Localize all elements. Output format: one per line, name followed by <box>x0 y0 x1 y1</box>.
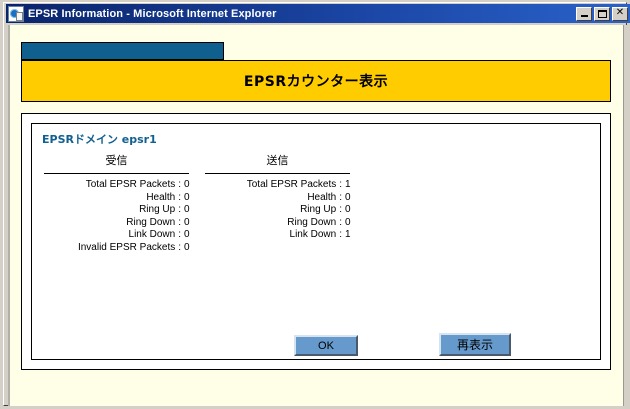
counter-value: 1 <box>345 229 352 242</box>
column-divider <box>205 173 350 174</box>
content-panel-outer: EPSRドメイン epsr1 受信 Total EPSR Packets : 0 <box>21 113 611 370</box>
counter-label: Ring Down <box>203 217 336 230</box>
scroll-gutter <box>623 25 628 406</box>
title-bar: EPSR Information - Microsoft Internet Ex… <box>6 4 630 23</box>
counter-separator: : <box>336 217 345 230</box>
counter-row: Invalid EPSR Packets : 0 <box>42 242 191 255</box>
counter-value: 0 <box>184 242 191 255</box>
counter-label: Ring Up <box>42 204 175 217</box>
counter-value: 0 <box>345 192 352 205</box>
minimize-button[interactable] <box>576 7 592 21</box>
counter-separator: : <box>175 179 184 192</box>
maximize-button[interactable] <box>594 7 610 21</box>
page-body: EPSRカウンター表示 EPSRドメイン epsr1 受信 Total EPSR… <box>10 25 626 406</box>
counter-label: Link Down <box>42 229 175 242</box>
close-button[interactable]: ✕ <box>612 7 628 21</box>
counter-value: 0 <box>184 204 191 217</box>
counter-separator: : <box>175 204 184 217</box>
ie-document-icon <box>8 6 24 22</box>
minimize-icon <box>581 15 588 17</box>
counter-value: 0 <box>345 204 352 217</box>
counter-row: Link Down : 1 <box>203 229 352 242</box>
counter-value: 0 <box>184 192 191 205</box>
counter-value: 1 <box>345 179 352 192</box>
window-controls: ✕ <box>576 7 628 21</box>
counter-separator: : <box>175 229 184 242</box>
close-icon: ✕ <box>616 8 624 18</box>
counter-value: 0 <box>184 179 191 192</box>
counter-label: Ring Up <box>203 204 336 217</box>
counter-label: Ring Down <box>42 217 175 230</box>
counter-separator: : <box>336 204 345 217</box>
counter-separator: : <box>175 242 184 255</box>
browser-client-area: EPSRカウンター表示 EPSRドメイン epsr1 受信 Total EPSR… <box>8 25 628 406</box>
counter-value: 0 <box>184 229 191 242</box>
counter-row: Link Down : 0 <box>42 229 191 242</box>
counter-label: Health <box>203 192 336 205</box>
column-header-transmit: 送信 <box>203 152 352 171</box>
counter-row: Health : 0 <box>42 192 191 205</box>
counter-row: Ring Up : 0 <box>203 204 352 217</box>
counter-row: Total EPSR Packets : 0 <box>42 179 191 192</box>
page-title: EPSRカウンター表示 <box>244 71 388 91</box>
ok-button[interactable]: OK <box>294 335 358 356</box>
counter-value: 0 <box>345 217 352 230</box>
domain-heading: EPSRドメイン epsr1 <box>42 131 157 147</box>
counter-value: 0 <box>184 217 191 230</box>
counter-column-receive: 受信 Total EPSR Packets : 0 Health : 0 <box>42 152 191 254</box>
header-tab-strip <box>21 42 224 60</box>
maximize-icon <box>598 10 607 18</box>
counter-row: Total EPSR Packets : 1 <box>203 179 352 192</box>
counter-label: Total EPSR Packets <box>203 179 336 192</box>
counter-label: Link Down <box>203 229 336 242</box>
counter-label: Invalid EPSR Packets <box>42 242 175 255</box>
counter-label: Total EPSR Packets <box>42 179 175 192</box>
window-title: EPSR Information - Microsoft Internet Ex… <box>28 8 276 20</box>
counter-row: Ring Down : 0 <box>42 217 191 230</box>
counter-separator: : <box>175 192 184 205</box>
content-panel-inner: EPSRドメイン epsr1 受信 Total EPSR Packets : 0 <box>31 123 601 360</box>
counter-separator: : <box>336 179 345 192</box>
page-banner: EPSRカウンター表示 <box>21 60 611 102</box>
page-shape <box>16 12 23 21</box>
counter-separator: : <box>175 217 184 230</box>
counter-separator: : <box>336 192 345 205</box>
counter-row: Ring Down : 0 <box>203 217 352 230</box>
counter-row: Ring Up : 0 <box>42 204 191 217</box>
counter-column-transmit: 送信 Total EPSR Packets : 1 Health : 0 <box>203 152 352 254</box>
counter-label: Health <box>42 192 175 205</box>
browser-window: EPSR Information - Microsoft Internet Ex… <box>0 0 630 409</box>
counter-row: Health : 0 <box>203 192 352 205</box>
counter-columns: 受信 Total EPSR Packets : 0 Health : 0 <box>42 152 352 254</box>
column-divider <box>44 173 189 174</box>
refresh-button[interactable]: 再表示 <box>439 333 511 356</box>
counter-separator: : <box>336 229 345 242</box>
column-header-receive: 受信 <box>42 152 191 171</box>
